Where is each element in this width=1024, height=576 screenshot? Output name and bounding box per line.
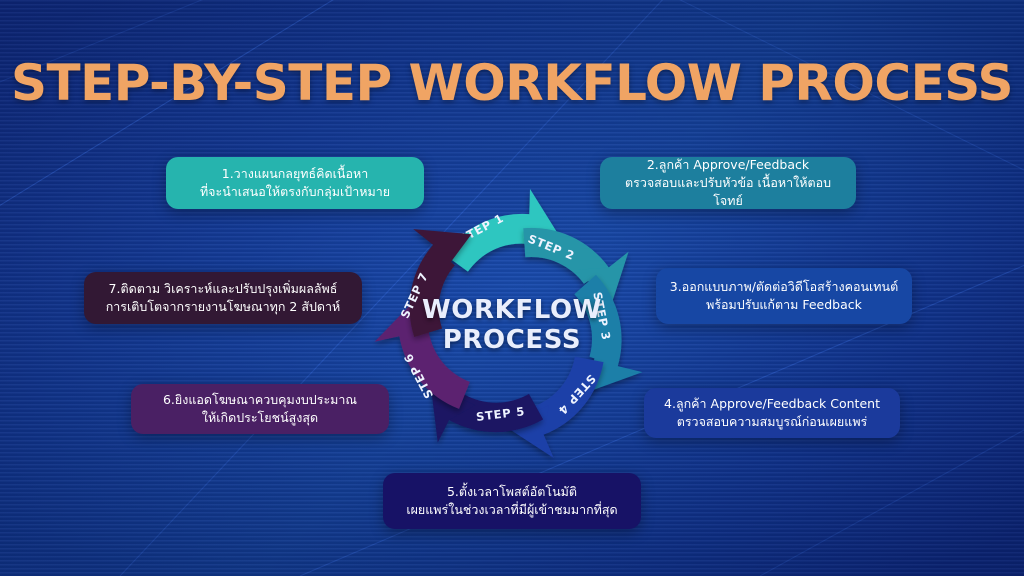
callout-step-2-line-1: 2.ลูกค้า Approve/Feedback: [612, 156, 844, 174]
page-title: STEP-BY-STEP WORKFLOW PROCESS: [0, 54, 1024, 112]
callout-step-1[interactable]: 1.วางแผนกลยุทธ์คิดเนื้อหา ที่จะนำเสนอให้…: [166, 157, 424, 209]
callout-step-1-line-1: 1.วางแผนกลยุทธ์คิดเนื้อหา: [200, 165, 390, 183]
callout-step-5-line-2: เผยแพร่ในช่วงเวลาที่มีผู้เข้าชมมากที่สุด: [406, 501, 617, 519]
callout-step-7[interactable]: 7.ติดตาม วิเคราะห์และปรับปรุงเพิ่มผลลัพธ…: [84, 272, 362, 324]
callout-step-5-line-1: 5.ตั้งเวลาโพสต์อัตโนมัติ: [406, 483, 617, 501]
callout-step-4-line-2: ตรวจสอบความสมบูรณ์ก่อนเผยแพร่: [664, 413, 880, 431]
callout-step-1-line-2: ที่จะนำเสนอให้ตรงกับกลุ่มเป้าหมาย: [200, 183, 390, 201]
callout-step-6-line-2: ให้เกิดประโยชน์สูงสุด: [163, 409, 357, 427]
callout-step-3-line-1: 3.ออกแบบภาพ/ตัดต่อวิดีโอสร้างคอนเทนต์: [670, 278, 898, 296]
callout-step-3-line-2: พร้อมปรับแก้ตาม Feedback: [670, 296, 898, 314]
callout-step-6[interactable]: 6.ยิงแอดโฆษณาควบคุมงบประมาณ ให้เกิดประโย…: [131, 384, 389, 434]
workflow-wheel: STEP 1 STEP 2 STEP 3 STEP 4: [382, 196, 642, 456]
callout-step-2[interactable]: 2.ลูกค้า Approve/Feedback ตรวจสอบและปรับ…: [600, 157, 856, 209]
callout-step-2-line-2: ตรวจสอบและปรับหัวข้อ เนื้อหาให้ตอบโจทย์: [612, 174, 844, 210]
callout-step-4[interactable]: 4.ลูกค้า Approve/Feedback Content ตรวจสอ…: [644, 388, 900, 438]
callout-step-5[interactable]: 5.ตั้งเวลาโพสต์อัตโนมัติ เผยแพร่ในช่วงเว…: [383, 473, 641, 529]
slide-canvas: STEP-BY-STEP WORKFLOW PROCESS STEP 1 STE…: [0, 0, 1024, 576]
callout-step-7-line-2: การเติบโตจากรายงานโฆษณาทุก 2 สัปดาห์: [106, 298, 341, 316]
callout-step-3[interactable]: 3.ออกแบบภาพ/ตัดต่อวิดีโอสร้างคอนเทนต์ พร…: [656, 268, 912, 324]
callout-step-4-line-1: 4.ลูกค้า Approve/Feedback Content: [664, 395, 880, 413]
callout-step-7-line-1: 7.ติดตาม วิเคราะห์และปรับปรุงเพิ่มผลลัพธ…: [106, 280, 341, 298]
callout-step-6-line-1: 6.ยิงแอดโฆษณาควบคุมงบประมาณ: [163, 391, 357, 409]
